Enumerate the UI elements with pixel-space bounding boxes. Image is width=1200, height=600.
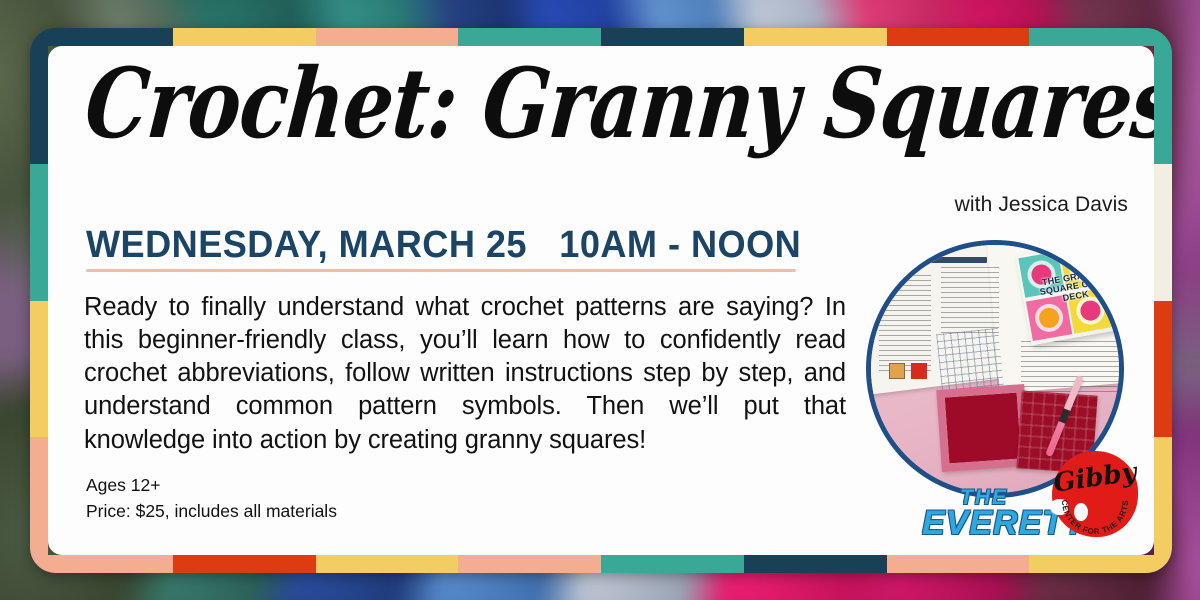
date-underline-rule	[86, 269, 796, 272]
border-strip-right	[1154, 28, 1172, 573]
card-content-area: Crochet: Granny Squares! with Jessica Da…	[48, 46, 1154, 555]
everett-logo: THE EVERETT	[922, 488, 1046, 539]
gibby-arc-text-svg: CENTER FOR THE ARTS	[1052, 451, 1138, 537]
border-segment-bottom-4	[458, 555, 601, 573]
border-segment-bottom-8	[1029, 555, 1172, 573]
border-strip-left	[30, 28, 48, 573]
event-date: WEDNESDAY, MARCH 25	[86, 224, 527, 267]
event-datetime: WEDNESDAY, MARCH 25 10AM - NOON	[86, 224, 801, 267]
everett-logo-name: EVERETT	[922, 508, 1046, 539]
border-segment-top-1	[30, 28, 173, 46]
border-segment-left-4	[30, 437, 48, 573]
border-segment-left-1	[30, 28, 48, 164]
border-segment-right-1	[1154, 28, 1172, 164]
event-time: 10AM - NOON	[559, 224, 801, 267]
photo-card-deck-box: THE GRANNY SQUARE CARD DECK	[1016, 240, 1124, 345]
flyer-card: Crochet: Granny Squares! with Jessica Da…	[30, 28, 1172, 573]
event-description: Ready to finally understand what crochet…	[84, 291, 846, 457]
page-title: Crochet: Granny Squares!	[82, 55, 1111, 153]
border-segment-top-5	[601, 28, 744, 46]
border-segment-top-7	[887, 28, 1030, 46]
border-segment-left-3	[30, 301, 48, 437]
photo-pattern-chart	[936, 328, 1004, 392]
border-segment-top-2	[173, 28, 316, 46]
border-segment-bottom-2	[173, 555, 316, 573]
event-flyer: Crochet: Granny Squares! with Jessica Da…	[0, 0, 1200, 600]
border-segment-bottom-6	[744, 555, 887, 573]
border-segment-bottom-3	[316, 555, 459, 573]
border-segment-top-3	[316, 28, 459, 46]
border-segment-right-2	[1154, 164, 1172, 300]
border-segment-top-6	[744, 28, 887, 46]
border-segment-bottom-7	[887, 555, 1030, 573]
event-details-footer: Ages 12+ Price: $25, includes all materi…	[86, 472, 337, 525]
gibby-center-for-the-arts-logo: Gibby CENTER FOR THE ARTS	[1052, 451, 1138, 537]
border-segment-right-3	[1154, 301, 1172, 437]
border-strip-bottom	[30, 555, 1172, 573]
photo-book-text-b	[941, 267, 999, 337]
border-strip-top	[30, 28, 1172, 46]
photo-book-text-a	[879, 275, 931, 371]
photo-book-heading	[927, 257, 987, 263]
age-requirement: Ages 12+	[86, 472, 337, 499]
border-segment-top-4	[458, 28, 601, 46]
presenter-credit: with Jessica Davis	[955, 193, 1128, 217]
border-segment-left-2	[30, 164, 48, 300]
border-segment-top-8	[1029, 28, 1172, 46]
border-segment-bottom-5	[601, 555, 744, 573]
photo-color-swatch-red	[911, 363, 927, 379]
border-segment-right-4	[1154, 437, 1172, 573]
photo-granny-square-pink-center	[945, 393, 1021, 464]
photo-color-swatch-orange	[889, 363, 905, 379]
gibby-arc-text: CENTER FOR THE ARTS	[1060, 499, 1130, 536]
border-segment-bottom-1	[30, 555, 173, 573]
price-info: Price: $25, includes all materials	[86, 498, 337, 525]
